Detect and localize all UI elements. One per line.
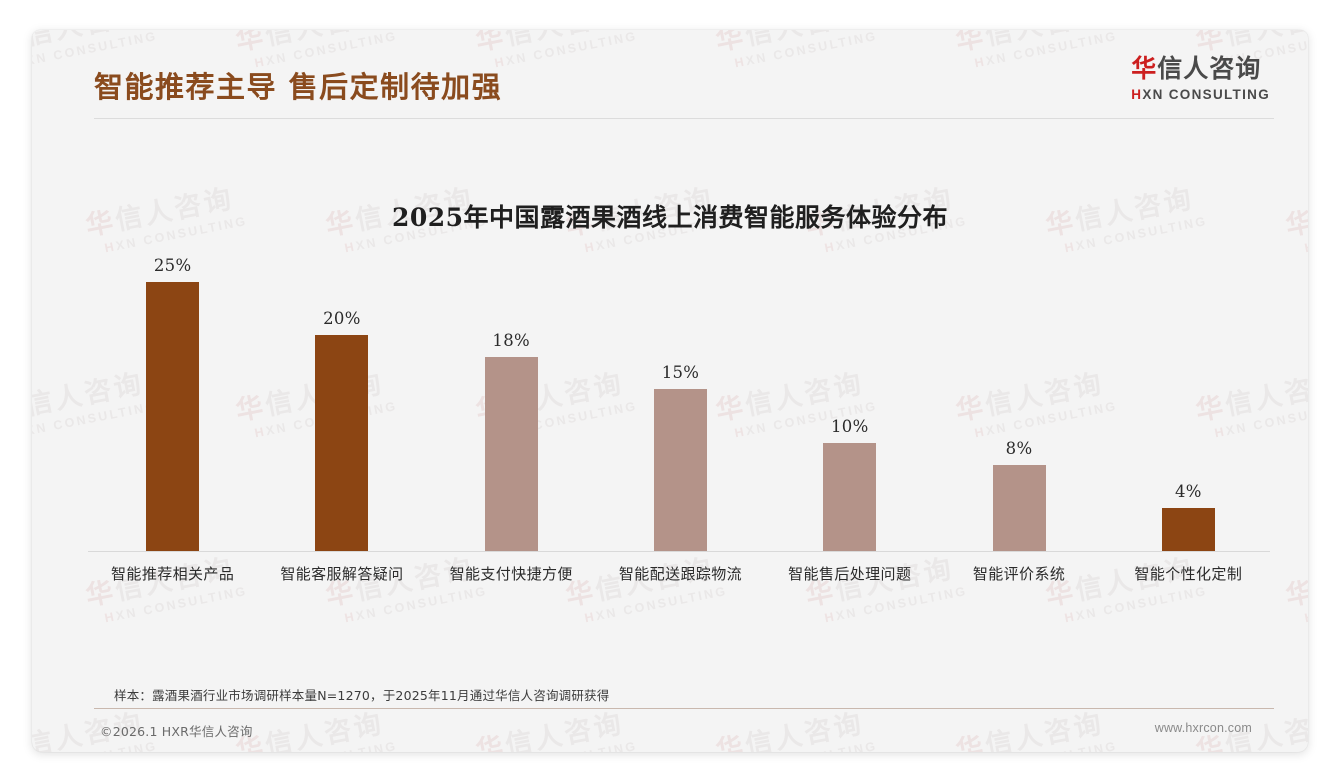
chart-x-label: 智能推荐相关产品 bbox=[88, 563, 257, 584]
chart-footnote: 样本：露酒果酒行业市场调研样本量N=1270，于2025年11月通过华信人咨询调… bbox=[114, 685, 609, 704]
website-url: www.hxrcon.com bbox=[1155, 721, 1252, 735]
chart-x-axis-line bbox=[88, 551, 1270, 552]
chart-bar[interactable] bbox=[485, 357, 538, 551]
brand-logo-cn-rest: 信人咨询 bbox=[1157, 54, 1261, 83]
chart-bar-slot: 10% bbox=[765, 260, 934, 551]
chart-bar[interactable] bbox=[993, 465, 1046, 551]
brand-logo-en-accent: H bbox=[1131, 87, 1142, 102]
chart-bar-slot: 18% bbox=[427, 260, 596, 551]
slide-header: 智能推荐主导 售后定制待加强 华信人咨询 HXN CONSULTING bbox=[32, 30, 1308, 118]
bar-value-label: 20% bbox=[257, 309, 426, 328]
bar-value-label: 8% bbox=[934, 439, 1103, 458]
chart-x-axis-labels: 智能推荐相关产品智能客服解答疑问智能支付快捷方便智能配送跟踪物流智能售后处理问题… bbox=[88, 563, 1273, 584]
chart-x-label: 智能评价系统 bbox=[934, 563, 1103, 584]
bar-value-label: 25% bbox=[88, 256, 257, 275]
watermark-tile: 华信人咨询HXN CONSULTING bbox=[322, 545, 489, 628]
header-divider bbox=[94, 118, 1274, 119]
page-title: 智能推荐主导 售后定制待加强 bbox=[94, 64, 502, 106]
chart-bar[interactable] bbox=[1162, 508, 1215, 551]
chart-x-label: 智能支付快捷方便 bbox=[427, 563, 596, 584]
chart-bar[interactable] bbox=[654, 389, 707, 551]
chart-x-label: 智能个性化定制 bbox=[1104, 563, 1273, 584]
brand-logo-english: HXN CONSULTING bbox=[1131, 88, 1270, 102]
chart-title: 2025年中国露酒果酒线上消费智能服务体验分布 bbox=[32, 198, 1308, 234]
brand-logo-en-rest: XN CONSULTING bbox=[1142, 87, 1270, 102]
brand-logo-chinese: 华信人咨询 bbox=[1131, 56, 1270, 81]
chart-bar[interactable] bbox=[146, 282, 199, 551]
footer-divider bbox=[94, 708, 1274, 709]
watermark-tile: 华信人咨询HXN CONSULTING bbox=[802, 545, 969, 628]
chart-x-label: 智能客服解答疑问 bbox=[257, 563, 426, 584]
chart-bar[interactable] bbox=[823, 443, 876, 551]
copyright-text: ©2026.1 HXR华信人咨询 bbox=[100, 721, 253, 740]
bar-value-label: 18% bbox=[427, 331, 596, 350]
watermark-tile: 华信人咨询HXN CONSULTING bbox=[562, 545, 729, 628]
chart-bars: 25%20%18%15%10%8%4% bbox=[88, 260, 1273, 551]
chart-bar-slot: 8% bbox=[934, 260, 1103, 551]
watermark-tile: 华信人咨询HXN CONSULTING bbox=[1282, 545, 1308, 628]
bar-value-label: 4% bbox=[1104, 482, 1273, 501]
chart-bar-slot: 4% bbox=[1104, 260, 1273, 551]
watermark-tile: 华信人咨询HXN CONSULTING bbox=[1042, 545, 1209, 628]
watermark-tile: 华信人咨询HXN CONSULTING bbox=[82, 545, 249, 628]
bar-value-label: 10% bbox=[765, 417, 934, 436]
chart-bar-slot: 15% bbox=[596, 260, 765, 551]
chart-bar-slot: 25% bbox=[88, 260, 257, 551]
chart-x-label: 智能配送跟踪物流 bbox=[596, 563, 765, 584]
bar-value-label: 15% bbox=[596, 363, 765, 382]
slide-card: 华信人咨询HXN CONSULTING华信人咨询HXN CONSULTING华信… bbox=[32, 30, 1308, 752]
brand-logo: 华信人咨询 HXN CONSULTING bbox=[1131, 56, 1270, 102]
chart-bar[interactable] bbox=[315, 335, 368, 551]
slide-footer: ©2026.1 HXR华信人咨询 www.hxrcon.com bbox=[32, 716, 1308, 752]
brand-logo-cn-accent: 华 bbox=[1131, 54, 1157, 83]
chart-x-label: 智能售后处理问题 bbox=[765, 563, 934, 584]
chart-bar-slot: 20% bbox=[257, 260, 426, 551]
